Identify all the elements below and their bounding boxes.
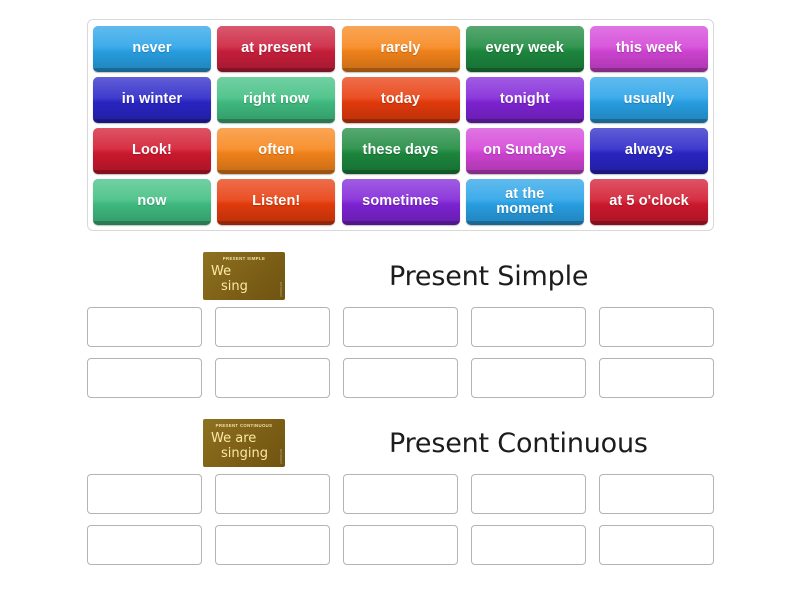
word-tile-label: sometimes (362, 194, 439, 209)
word-tile[interactable]: never (93, 26, 211, 72)
drop-slot[interactable] (87, 474, 202, 514)
drop-slot-row (87, 525, 714, 565)
drop-slot[interactable] (215, 358, 330, 398)
tile-row: in winter right now today tonight usuall… (93, 77, 708, 123)
word-tile-label: Listen! (252, 194, 300, 209)
word-tile[interactable]: in winter (93, 77, 211, 123)
word-tile[interactable]: always (590, 128, 708, 174)
word-tile-label: tonight (500, 92, 550, 107)
word-tile[interactable]: today (342, 77, 460, 123)
drop-slot[interactable] (215, 307, 330, 347)
drop-slot[interactable] (599, 525, 714, 565)
drop-slot[interactable] (343, 474, 458, 514)
drop-slot[interactable] (599, 474, 714, 514)
word-tile-label: rarely (380, 41, 420, 56)
word-tile-bank: never at present rarely every week this … (87, 19, 714, 231)
word-tile-label: now (137, 194, 166, 209)
word-tile-label: always (625, 143, 673, 158)
word-tile[interactable]: Listen! (217, 179, 335, 225)
tile-row: never at present rarely every week this … (93, 26, 708, 72)
drop-slot[interactable] (343, 358, 458, 398)
group-header: PRESENT SIMPLE We sing wordwall Present … (87, 245, 714, 307)
word-tile-label: never (132, 41, 171, 56)
thumbnail-line-1: We are (211, 431, 256, 446)
drop-slot[interactable] (471, 525, 586, 565)
present-continuous-thumbnail-image: PRESENT CONTINUOUS We are singing wordwa… (203, 419, 285, 467)
word-tile[interactable]: at 5 o'clock (590, 179, 708, 225)
drop-slot-row (87, 474, 714, 514)
word-tile[interactable]: tonight (466, 77, 584, 123)
drop-slot[interactable] (87, 525, 202, 565)
drop-slot[interactable] (87, 307, 202, 347)
word-tile-label: usually (624, 92, 675, 107)
tile-row: Look! often these days on Sundays always (93, 128, 708, 174)
word-tile[interactable]: Look! (93, 128, 211, 174)
drop-slot[interactable] (215, 525, 330, 565)
word-tile[interactable]: these days (342, 128, 460, 174)
thumbnail-line-2: sing (221, 279, 248, 294)
thumbnail-line-1: We (211, 264, 231, 279)
drop-slot[interactable] (343, 307, 458, 347)
group-title-present-continuous: Present Continuous (389, 428, 648, 459)
word-tile[interactable]: often (217, 128, 335, 174)
drop-slot-row (87, 358, 714, 398)
thumbnail-kicker: PRESENT SIMPLE (203, 256, 285, 261)
word-tile-label: these days (363, 143, 439, 158)
thumbnail-line-2: singing (221, 446, 268, 461)
word-tile-label: on Sundays (483, 143, 566, 158)
word-tile[interactable]: on Sundays (466, 128, 584, 174)
word-tile[interactable]: rarely (342, 26, 460, 72)
word-tile[interactable]: now (93, 179, 211, 225)
word-tile-label: often (258, 143, 294, 158)
word-tile-label: at 5 o'clock (609, 194, 689, 209)
drop-slot[interactable] (599, 358, 714, 398)
word-tile[interactable]: every week (466, 26, 584, 72)
group-header: PRESENT CONTINUOUS We are singing wordwa… (87, 412, 714, 474)
thumbnail-watermark: wordwall (279, 449, 283, 464)
word-tile[interactable]: usually (590, 77, 708, 123)
word-tile-label: every week (486, 41, 564, 56)
drop-slot[interactable] (599, 307, 714, 347)
word-tile[interactable]: at present (217, 26, 335, 72)
present-simple-thumbnail-image: PRESENT SIMPLE We sing wordwall (203, 252, 285, 300)
word-tile-label: this week (616, 41, 682, 56)
drop-slot[interactable] (215, 474, 330, 514)
drop-slot[interactable] (471, 307, 586, 347)
activity-canvas: never at present rarely every week this … (0, 0, 800, 600)
group-present-continuous: PRESENT CONTINUOUS We are singing wordwa… (87, 412, 714, 576)
word-tile-label: today (381, 92, 420, 107)
word-tile-label: in winter (122, 92, 183, 107)
drop-slot[interactable] (87, 358, 202, 398)
word-tile-label: at present (241, 41, 311, 56)
drop-slot[interactable] (471, 358, 586, 398)
drop-slot-row (87, 307, 714, 347)
tile-row: now Listen! sometimes at the moment at 5… (93, 179, 708, 225)
word-tile[interactable]: at the moment (466, 179, 584, 225)
word-tile[interactable]: right now (217, 77, 335, 123)
thumbnail-watermark: wordwall (279, 282, 283, 297)
word-tile[interactable]: sometimes (342, 179, 460, 225)
word-tile[interactable]: this week (590, 26, 708, 72)
word-tile-label: Look! (132, 143, 172, 158)
word-tile-label: at the moment (496, 187, 553, 217)
word-tile-label: right now (243, 92, 309, 107)
group-title-present-simple: Present Simple (389, 261, 588, 292)
thumbnail-kicker: PRESENT CONTINUOUS (203, 423, 285, 428)
group-present-simple: PRESENT SIMPLE We sing wordwall Present … (87, 245, 714, 409)
drop-slot[interactable] (343, 525, 458, 565)
drop-slot[interactable] (471, 474, 586, 514)
